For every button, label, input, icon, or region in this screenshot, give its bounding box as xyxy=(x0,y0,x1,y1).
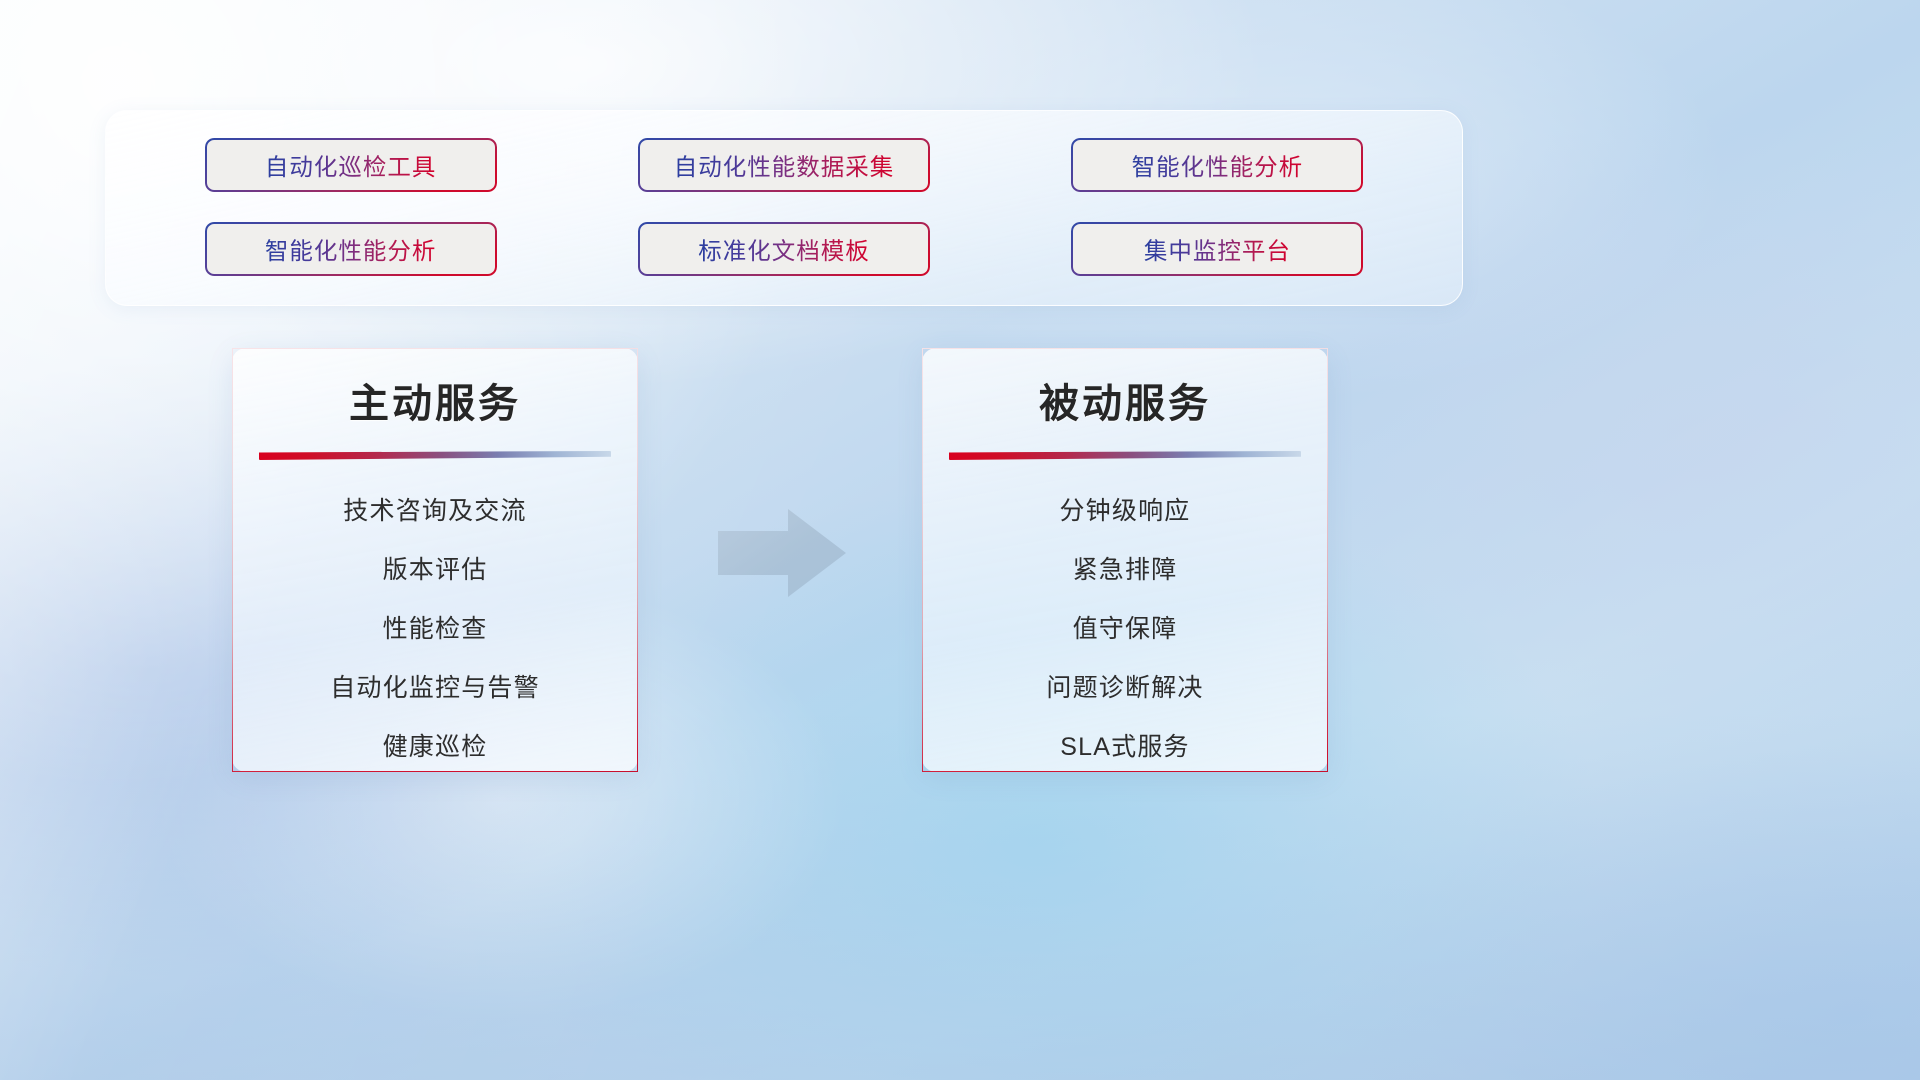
capability-pill-centralized-monitoring-platform[interactable]: 集中监控平台 xyxy=(1071,222,1363,276)
list-item: 问题诊断解决 xyxy=(923,659,1327,718)
active-service-list: 技术咨询及交流 版本评估 性能检查 自动化监控与告警 健康巡检 xyxy=(233,482,637,772)
list-item: 紧急排障 xyxy=(923,541,1327,600)
capability-pill-intelligent-performance-analysis-bottom[interactable]: 智能化性能分析 xyxy=(205,222,497,276)
capability-pill-automated-performance-data-collection[interactable]: 自动化性能数据采集 xyxy=(638,138,930,192)
passive-service-list: 分钟级响应 紧急排障 值守保障 问题诊断解决 SLA式服务 xyxy=(923,482,1327,772)
capabilities-panel: 自动化巡检工具 自动化性能数据采集 智能化性能分析 智能化性能分析 标准化文档模… xyxy=(105,110,1463,306)
list-item: SLA式服务 xyxy=(923,718,1327,772)
list-item: 自动化监控与告警 xyxy=(233,659,637,718)
list-item: 性能检查 xyxy=(233,600,637,659)
capability-pill-label: 智能化性能分析 xyxy=(1132,148,1304,182)
active-service-divider xyxy=(259,451,611,460)
passive-service-card: 被动服务 分钟级响应 紧急排障 值守保障 问题诊断解决 SLA式服务 xyxy=(922,348,1328,772)
list-item: 版本评估 xyxy=(233,541,637,600)
capability-pill-label: 集中监控平台 xyxy=(1144,232,1291,266)
capability-pill-intelligent-performance-analysis-top[interactable]: 智能化性能分析 xyxy=(1071,138,1363,192)
arrow-right-icon xyxy=(714,505,850,601)
list-item: 技术咨询及交流 xyxy=(233,482,637,541)
capabilities-grid: 自动化巡检工具 自动化性能数据采集 智能化性能分析 智能化性能分析 标准化文档模… xyxy=(106,111,1462,305)
passive-service-divider xyxy=(949,451,1301,460)
active-service-title: 主动服务 xyxy=(233,371,637,429)
list-item: 值守保障 xyxy=(923,600,1327,659)
list-item: 分钟级响应 xyxy=(923,482,1327,541)
capability-pill-standardized-document-template[interactable]: 标准化文档模板 xyxy=(638,222,930,276)
capability-pill-label: 智能化性能分析 xyxy=(265,232,437,266)
list-item: 健康巡检 xyxy=(233,718,637,772)
capability-pill-label: 自动化巡检工具 xyxy=(265,148,437,182)
capability-pill-automated-inspection-tool[interactable]: 自动化巡检工具 xyxy=(205,138,497,192)
capability-pill-label: 自动化性能数据采集 xyxy=(674,148,895,182)
active-service-card: 主动服务 技术咨询及交流 版本评估 性能检查 自动化监控与告警 健康巡检 xyxy=(232,348,638,772)
passive-service-title: 被动服务 xyxy=(923,371,1327,429)
capability-pill-label: 标准化文档模板 xyxy=(698,232,870,266)
